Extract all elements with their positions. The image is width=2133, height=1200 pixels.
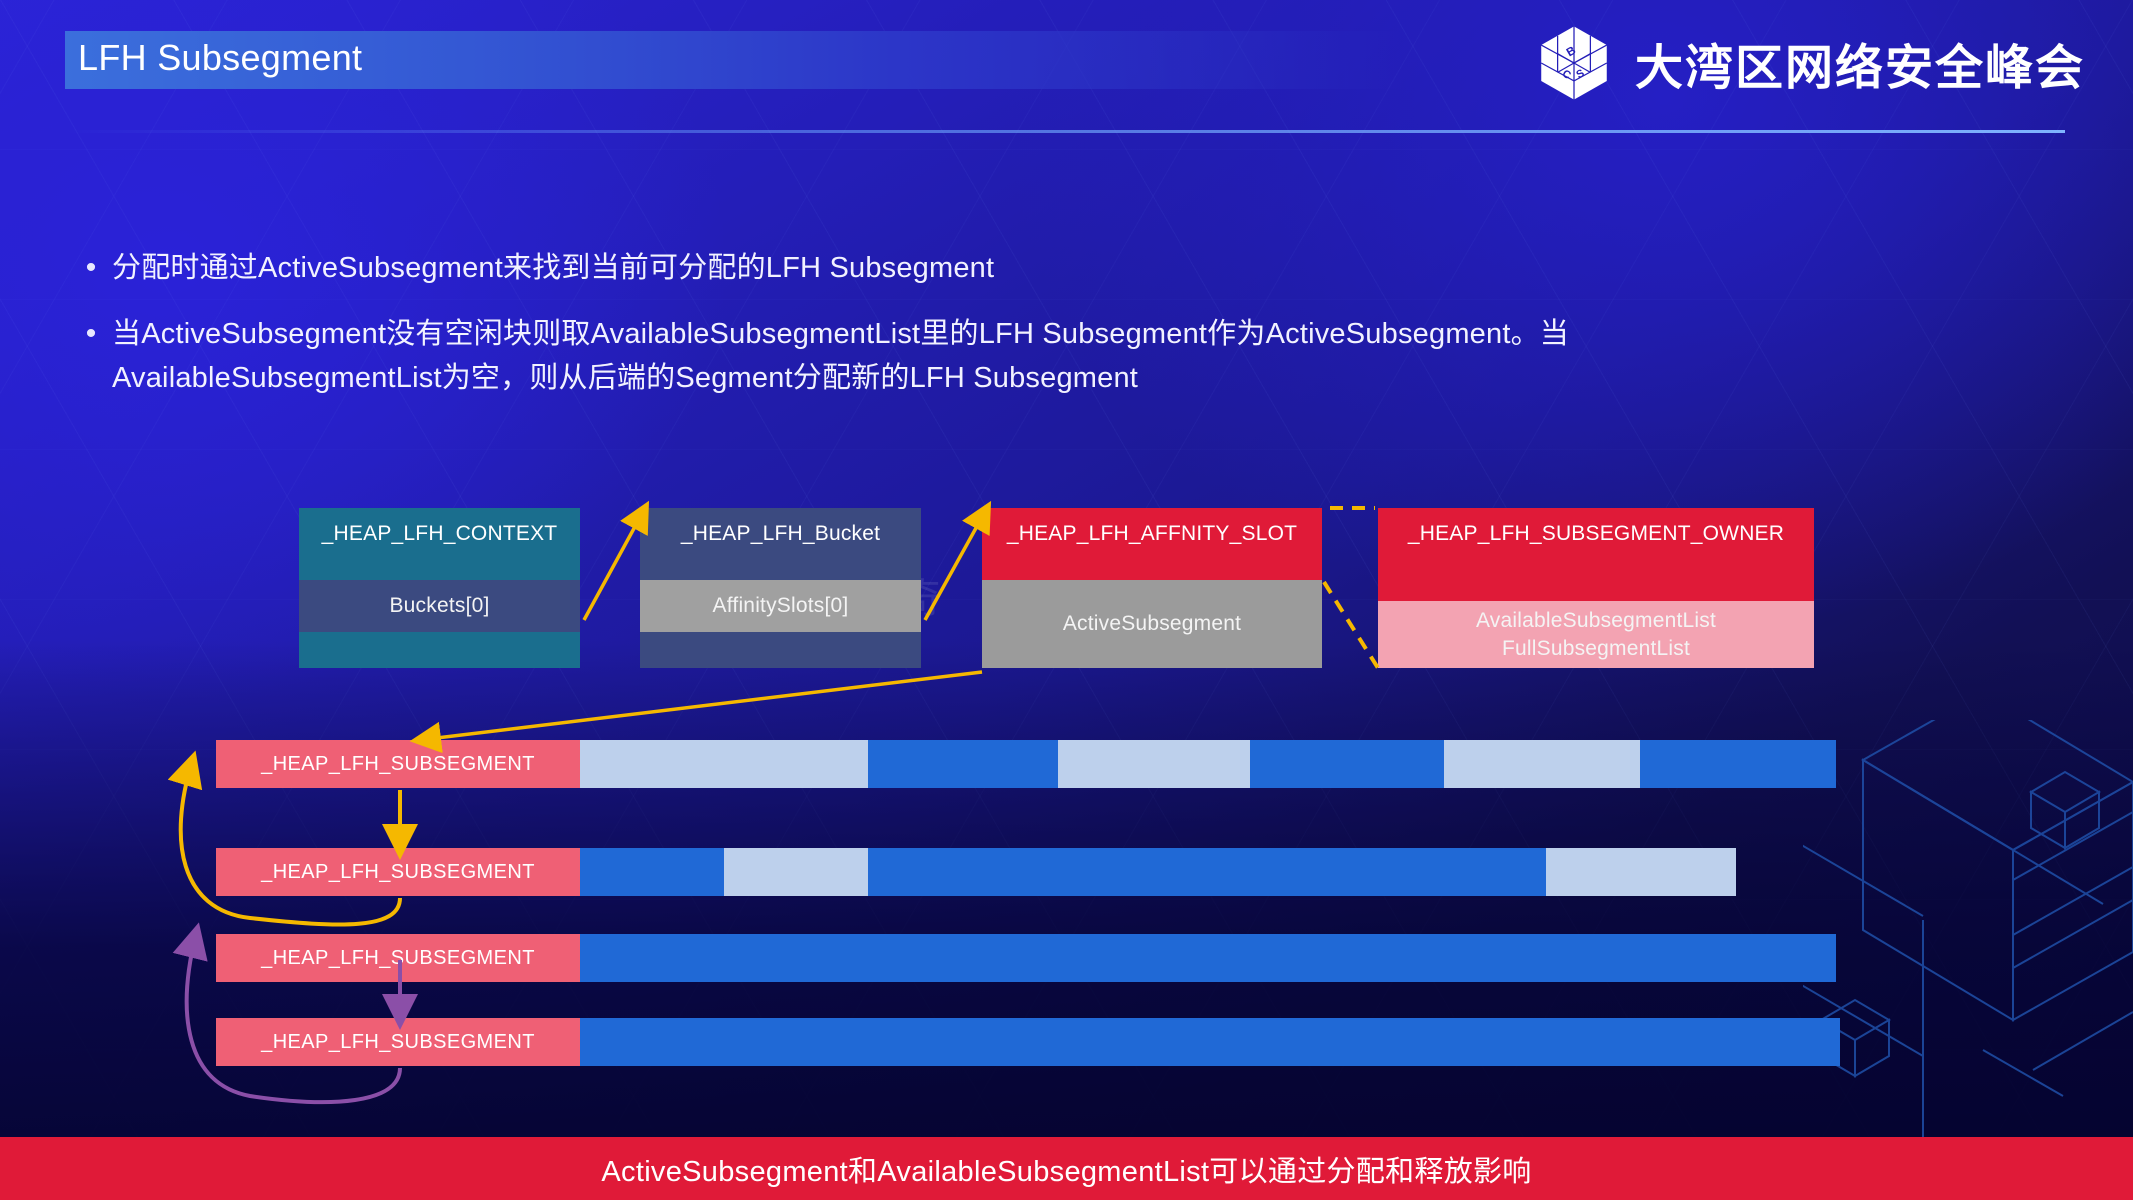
allocated-chunk-block: [580, 848, 724, 896]
allocated-chunk-block: [1640, 740, 1836, 788]
struct-heap-lfh-subsegment-owner: _HEAP_LFH_SUBSEGMENT_OWNER AvailableSubs…: [1378, 508, 1814, 668]
free-chunk-block: [1444, 740, 1640, 788]
struct-field-label: AffinitySlots[0]: [640, 580, 921, 632]
struct-field-row: AvailableSubsegmentList FullSubsegmentLi…: [1378, 601, 1814, 668]
subsegment-row-label: _HEAP_LFH_SUBSEGMENT: [216, 848, 580, 896]
allocated-chunk-block: [1250, 740, 1444, 788]
struct-field-label: ActiveSubsegment: [982, 580, 1322, 668]
struct-field-row: ActiveSubsegment: [982, 580, 1322, 668]
struct-field-label: FullSubsegmentList: [1378, 635, 1814, 663]
lfh-structure-diagram: _HEAP_LFH_CONTEXT Buckets[0] _HEAP_LFH_B…: [0, 0, 2133, 1200]
free-chunk-block: [1058, 740, 1250, 788]
subsegment-block-strip: [580, 848, 1736, 896]
struct-heap-lfh-affinity-slot: _HEAP_LFH_AFFNITY_SLOT ActiveSubsegment: [982, 508, 1322, 668]
free-chunk-block: [580, 740, 868, 788]
struct-field-label: AvailableSubsegmentList: [1378, 607, 1814, 635]
struct-name: _HEAP_LFH_AFFNITY_SLOT: [982, 508, 1322, 546]
subsegment-row-label: _HEAP_LFH_SUBSEGMENT: [216, 1018, 580, 1066]
struct-field-label: Buckets[0]: [299, 580, 580, 632]
struct-name: _HEAP_LFH_CONTEXT: [299, 508, 580, 546]
allocated-chunk-block: [580, 1018, 1840, 1066]
footer-banner: ActiveSubsegment和AvailableSubsegmentList…: [0, 1137, 2133, 1200]
struct-field-row: AffinitySlots[0]: [640, 580, 921, 632]
struct-field-row: Buckets[0]: [299, 580, 580, 632]
struct-name: _HEAP_LFH_Bucket: [640, 508, 921, 546]
subsegment-row-label: _HEAP_LFH_SUBSEGMENT: [216, 934, 580, 982]
free-chunk-block: [1546, 848, 1736, 896]
allocated-chunk-block: [868, 740, 1058, 788]
subsegment-block-strip: [580, 934, 1836, 982]
allocated-chunk-block: [580, 934, 1836, 982]
subsegment-row-label: _HEAP_LFH_SUBSEGMENT: [216, 740, 580, 788]
free-chunk-block: [724, 848, 868, 896]
subsegment-block-strip: [580, 740, 1836, 788]
footer-text: ActiveSubsegment和AvailableSubsegmentList…: [601, 1148, 1531, 1190]
struct-heap-lfh-context: _HEAP_LFH_CONTEXT Buckets[0]: [299, 508, 580, 668]
subsegment-block-strip: [580, 1018, 1840, 1066]
struct-heap-lfh-bucket: _HEAP_LFH_Bucket AffinitySlots[0]: [640, 508, 921, 668]
struct-name: _HEAP_LFH_SUBSEGMENT_OWNER: [1378, 508, 1814, 546]
allocated-chunk-block: [868, 848, 1546, 896]
